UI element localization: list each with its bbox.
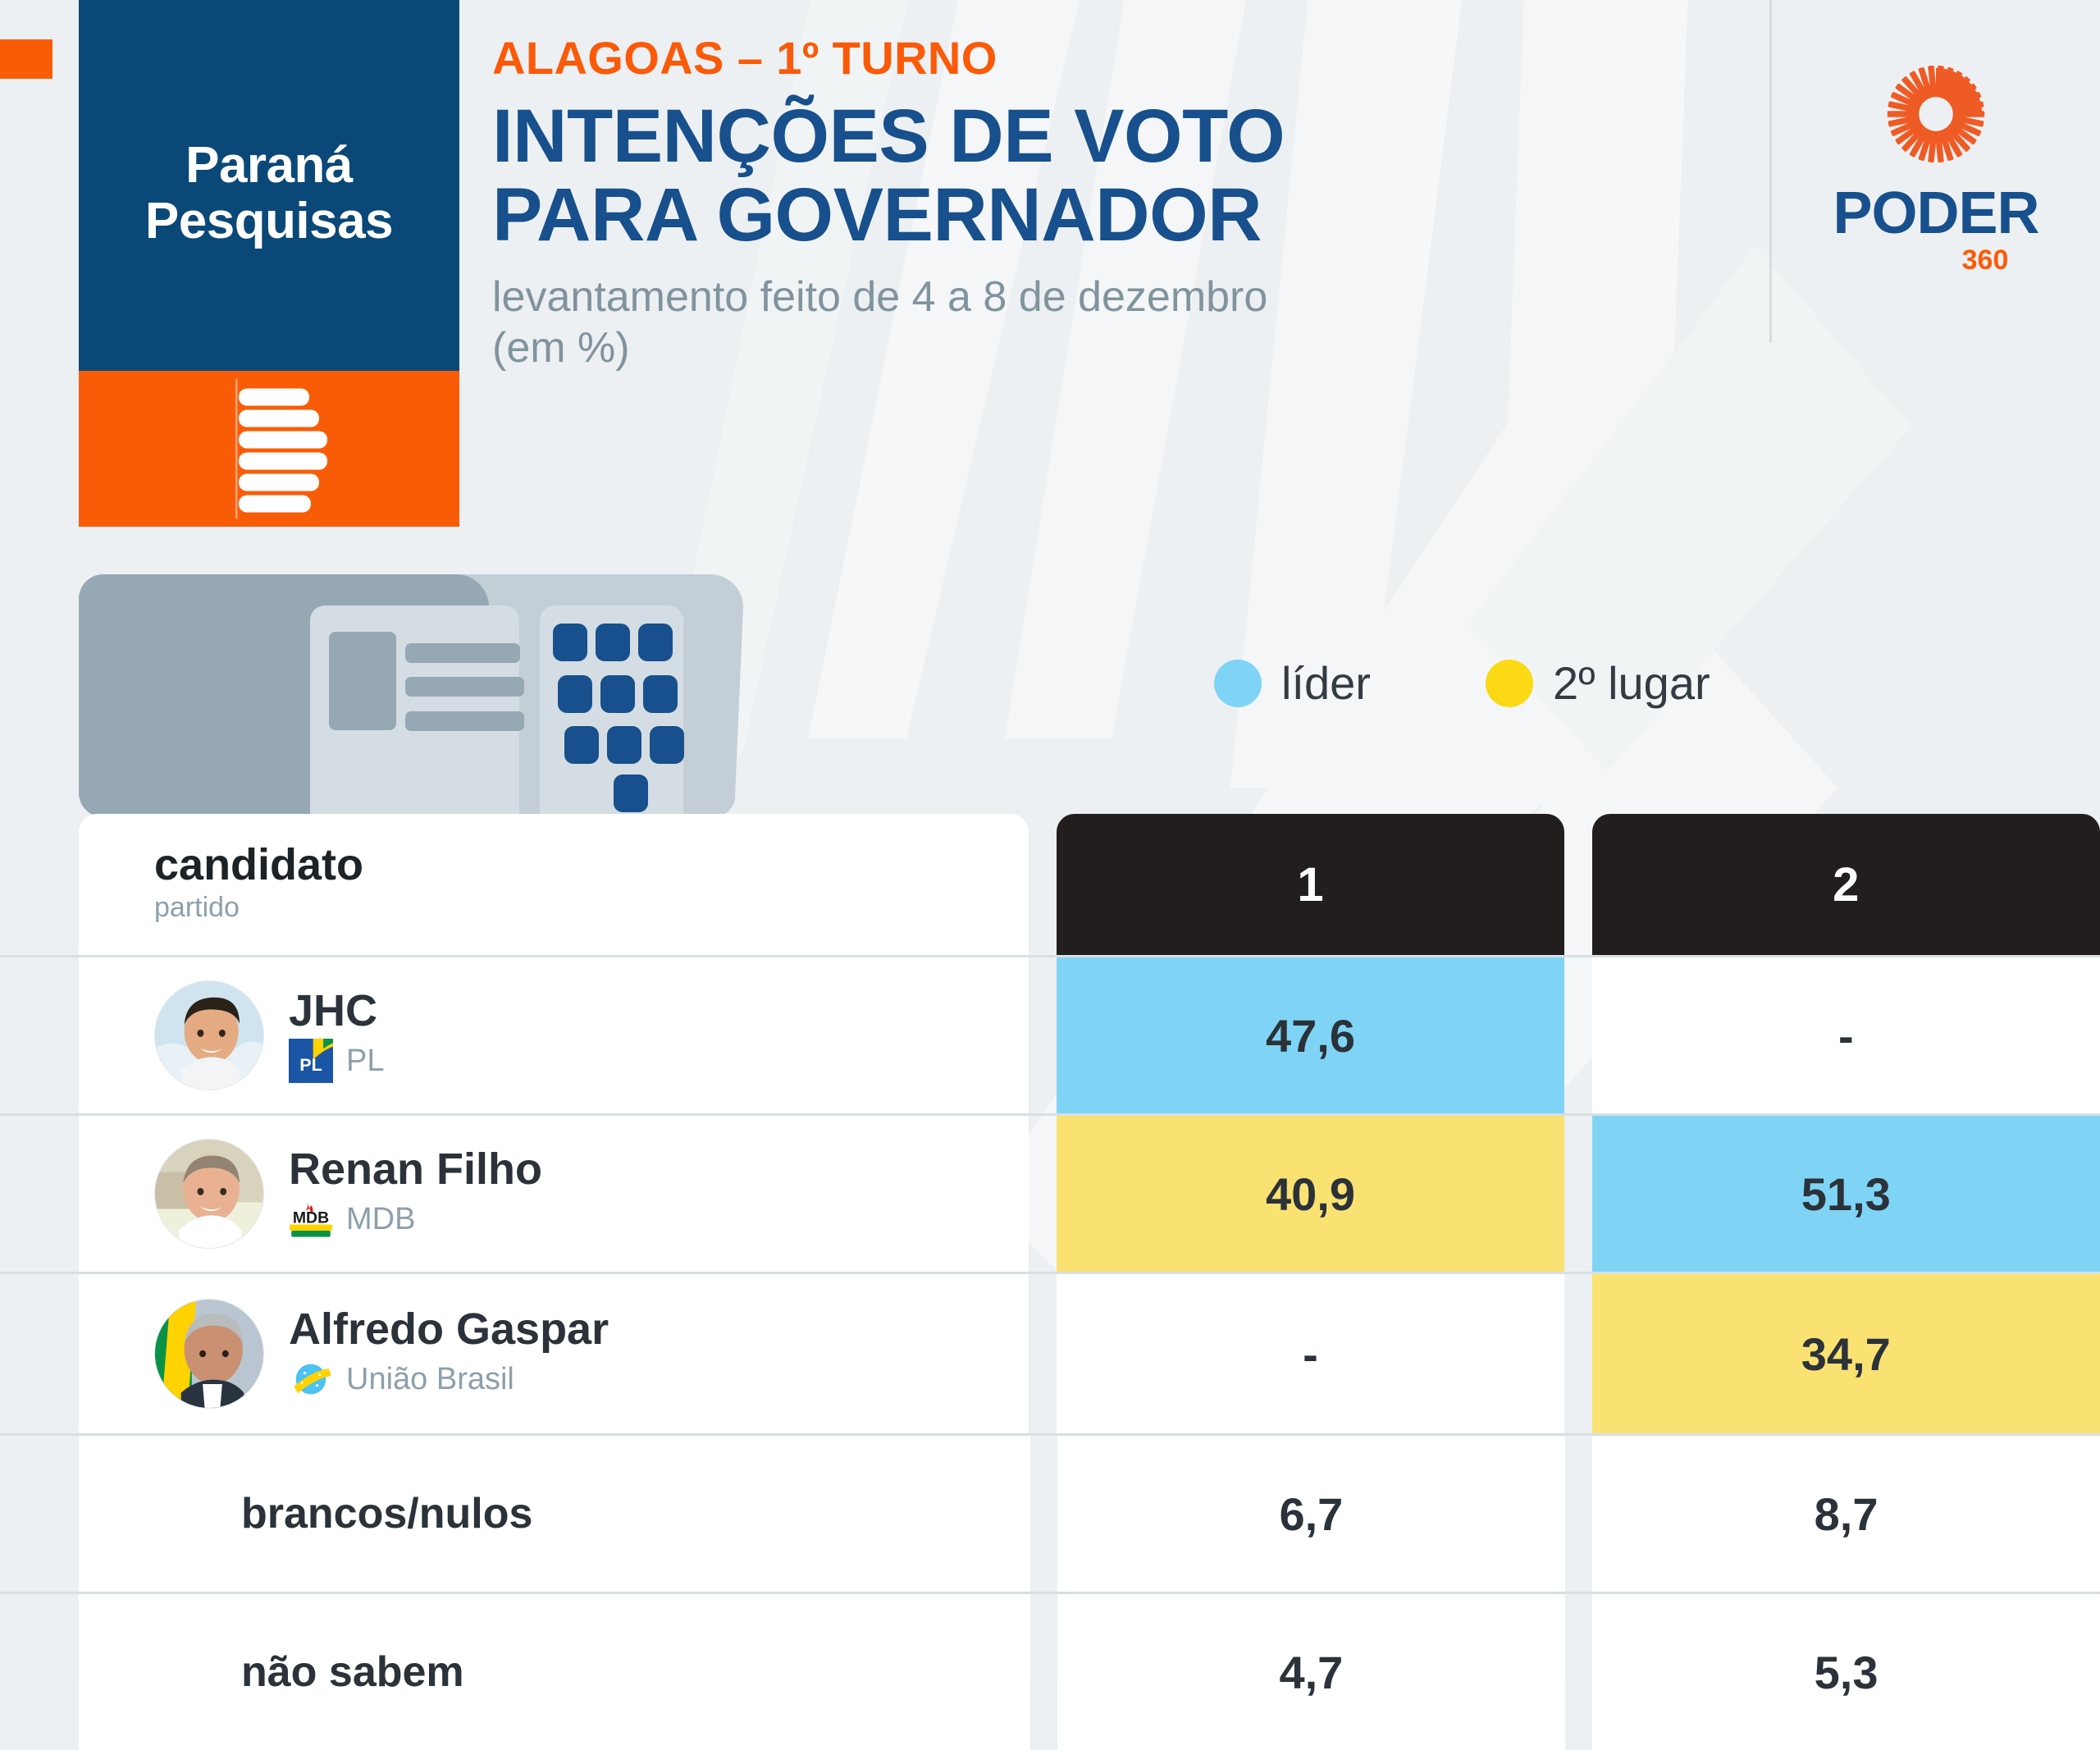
header-candidate-label: candidato xyxy=(154,842,1029,889)
value-cell-col-1: - xyxy=(1057,1274,1564,1433)
row-gap xyxy=(1564,1116,1591,1272)
party-label: PL xyxy=(346,1044,384,1079)
row-gap xyxy=(1564,1274,1591,1433)
uniao-brasil-party-logo-icon xyxy=(289,1357,333,1401)
avatar xyxy=(154,980,264,1090)
header-gap xyxy=(1564,814,1591,955)
header-col-2: 2 xyxy=(1592,814,2100,955)
row-gap xyxy=(1030,1436,1057,1592)
value-cell-col-1: 40,9 xyxy=(1057,1116,1564,1272)
brand-name-line1: Paraná xyxy=(185,138,353,194)
candidate-text: JHC PL PL xyxy=(289,988,384,1084)
value-cell-col-1: 47,6 xyxy=(1057,957,1564,1113)
value-cell-col-2: 51,3 xyxy=(1592,1116,2100,1272)
accent-tick xyxy=(0,39,52,79)
brand-mark-box xyxy=(79,371,459,527)
row-gap xyxy=(1564,957,1591,1113)
table-row: Alfredo Gaspar União Brasil - 34,7 xyxy=(0,1272,2100,1433)
row-gap xyxy=(1029,957,1056,1113)
row-gap xyxy=(1029,1116,1056,1272)
poder360-suffix: 360 xyxy=(1911,246,2059,274)
legend-item-leader: líder xyxy=(1214,656,1371,710)
header-party-label: partido xyxy=(154,892,1029,924)
mdb-party-logo-icon: MDB xyxy=(289,1197,333,1241)
candidate-name: não sabem xyxy=(241,1647,464,1697)
candidate-party: PL PL xyxy=(289,1039,384,1083)
subtitle-line1: levantamento feito de 4 a 8 de dezembro xyxy=(492,273,1267,321)
kicker-text: ALAGOAS – 1º TURNO xyxy=(492,31,1764,85)
electronic-voting-machine-icon xyxy=(79,568,751,822)
table-row: Renan Filho MDB MDB 40,9 51,3 xyxy=(0,1113,2100,1272)
poder360-sunburst-icon xyxy=(1875,53,1997,175)
page-title-line2: PARA GOVERNADOR xyxy=(492,173,1262,257)
header-divider xyxy=(1769,0,1772,343)
row-candidate-cell: não sabem xyxy=(79,1594,1030,1750)
svg-text:PL: PL xyxy=(299,1054,322,1075)
page-title: INTENÇÕES DE VOTO PARA GOVERNADOR xyxy=(492,98,1764,254)
legend-label-leader: líder xyxy=(1281,656,1371,710)
brand-name-line2: Pesquisas xyxy=(145,194,393,249)
svg-text:MDB: MDB xyxy=(293,1209,329,1227)
poder360-wordmark: PODER xyxy=(1813,184,2059,243)
legend-dot-blue-icon xyxy=(1214,660,1262,707)
row-gap xyxy=(1029,1274,1056,1433)
legend: líder 2º lugar xyxy=(1214,656,1710,710)
row-gap xyxy=(1565,1436,1592,1592)
header-candidate-cell: candidato partido xyxy=(79,814,1029,955)
row-candidate-cell: JHC PL PL xyxy=(79,957,1029,1113)
header-gap xyxy=(1029,814,1056,955)
value-cell-col-2: - xyxy=(1592,957,2100,1113)
table-header-row: candidato partido 1 2 xyxy=(0,814,2100,955)
parana-pesquisas-bars-p-icon xyxy=(191,377,347,521)
table-row: não sabem 4,7 5,3 xyxy=(0,1592,2100,1750)
table-row: JHC PL PL 47,6 - xyxy=(0,955,2100,1113)
candidate-name: brancos/nulos xyxy=(241,1489,532,1538)
party-label: MDB xyxy=(346,1202,415,1237)
avatar xyxy=(154,1299,264,1409)
row-gap xyxy=(1565,1594,1592,1750)
brand-block: Paraná Pesquisas xyxy=(79,0,459,527)
table-row: brancos/nulos 6,7 8,7 xyxy=(0,1433,2100,1592)
candidate-name: Renan Filho xyxy=(289,1146,542,1193)
candidate-text: Renan Filho MDB MDB xyxy=(289,1146,542,1242)
legend-item-second: 2º lugar xyxy=(1486,656,1710,710)
candidate-party: União Brasil xyxy=(289,1357,609,1401)
value-cell-col-1: 6,7 xyxy=(1057,1436,1565,1592)
headline-block: ALAGOAS – 1º TURNO INTENÇÕES DE VOTO PAR… xyxy=(492,31,1764,373)
row-gap xyxy=(1030,1594,1057,1750)
avatar xyxy=(154,1139,264,1249)
candidate-name: Alfredo Gaspar xyxy=(289,1306,609,1353)
page-title-line1: INTENÇÕES DE VOTO xyxy=(492,94,1285,178)
value-cell-col-2: 34,7 xyxy=(1592,1274,2100,1433)
legend-label-second: 2º lugar xyxy=(1553,656,1710,710)
header-col-1: 1 xyxy=(1057,814,1564,955)
candidate-text: Alfredo Gaspar União Brasil xyxy=(289,1306,609,1402)
value-cell-col-2: 8,7 xyxy=(1592,1436,2100,1592)
subtitle-line2: (em %) xyxy=(492,324,630,372)
value-cell-col-2: 5,3 xyxy=(1592,1594,2100,1750)
row-candidate-cell: Renan Filho MDB MDB xyxy=(79,1116,1029,1272)
brand-name-box: Paraná Pesquisas xyxy=(79,0,459,371)
candidate-name: JHC xyxy=(289,988,384,1035)
legend-dot-yellow-icon xyxy=(1486,660,1533,707)
poder360-logo: PODER 360 xyxy=(1813,53,2059,274)
value-cell-col-1: 4,7 xyxy=(1057,1594,1565,1750)
pl-party-logo-icon: PL xyxy=(289,1039,333,1083)
results-table: candidato partido 1 2 xyxy=(0,814,2100,1750)
page-subtitle: levantamento feito de 4 a 8 de dezembro … xyxy=(492,272,1764,373)
candidate-party: MDB MDB xyxy=(289,1197,542,1241)
party-label: União Brasil xyxy=(346,1362,514,1397)
row-candidate-cell: Alfredo Gaspar União Brasil xyxy=(79,1274,1029,1433)
row-candidate-cell: brancos/nulos xyxy=(79,1436,1030,1592)
